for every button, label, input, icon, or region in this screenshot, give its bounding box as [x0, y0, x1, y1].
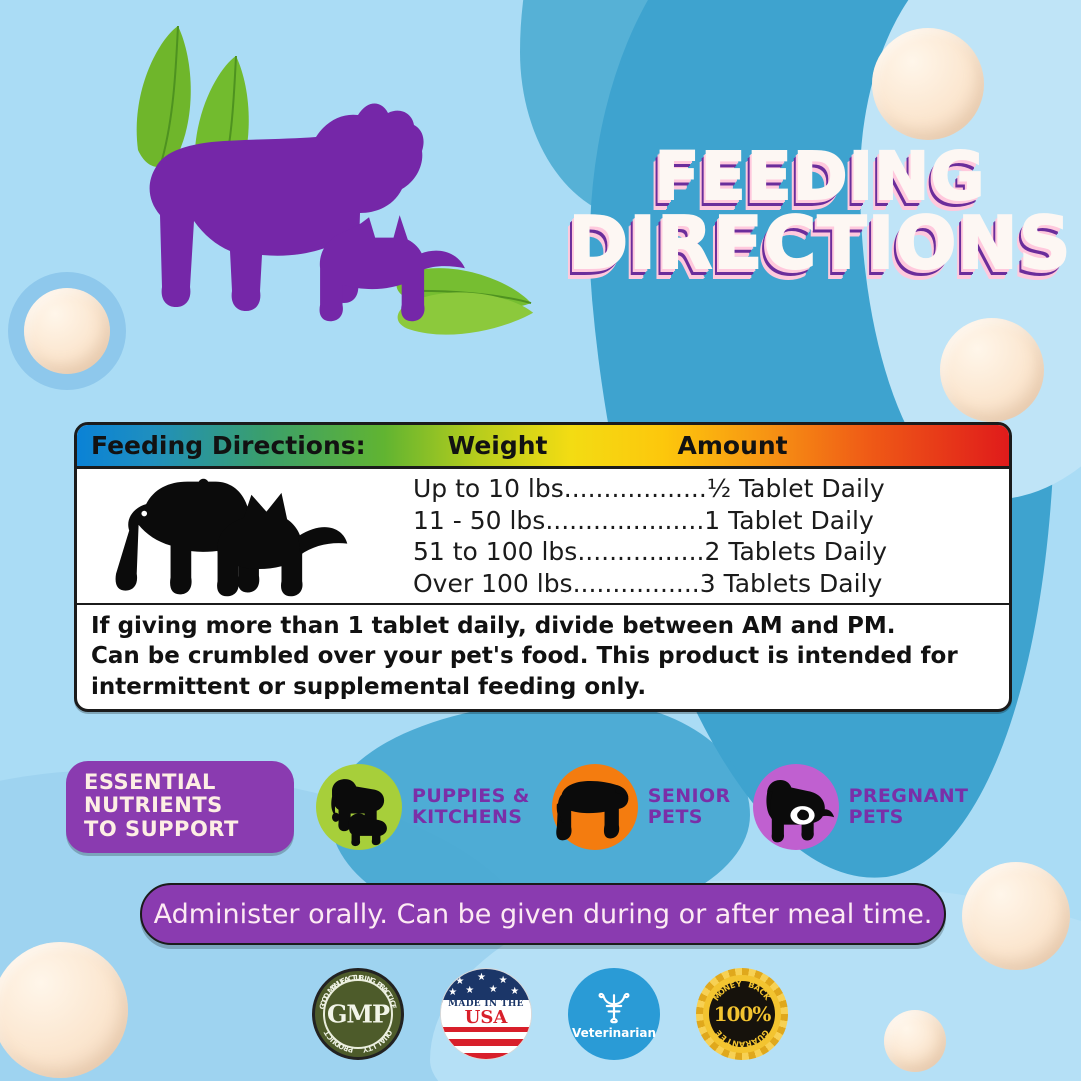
- money-back-guarantee-badge: 100% MONEY BACK GUARANTEE: [696, 968, 788, 1060]
- arc-character: Y: [735, 979, 742, 989]
- usa-flag-circle: ★ ★ ★ ★ ★ ★ ★ MADE IN THE USA: [440, 968, 532, 1060]
- star-icon: ★: [499, 976, 508, 986]
- trust-badges: GOOD MANUFACTURING PRACTICE QUALITY PROD…: [312, 962, 772, 1066]
- benefit-label: PREGNANT PETS: [849, 786, 969, 829]
- dosage-row: 11 - 50 lbs .................... 1 Table…: [413, 505, 1009, 537]
- dosage-amount: 3 Tablets Daily: [700, 568, 883, 600]
- dosage-weight: Up to 10 lbs: [413, 473, 564, 505]
- hero-pet-silhouettes: [120, 95, 540, 345]
- table-header-weight: Weight: [448, 431, 548, 460]
- usa-stripes: [441, 1025, 531, 1059]
- dosage-row: Over 100 lbs ................ 3 Tablets …: [413, 568, 1009, 600]
- puppy-and-kitten-silhouette: [316, 764, 402, 850]
- benefit-label: SENIOR PETS: [648, 786, 731, 829]
- star-icon: ★: [448, 988, 457, 998]
- dosage-amount: ½ Tablet Daily: [707, 473, 885, 505]
- arc-character: [359, 1046, 362, 1054]
- administer-text: Administer orally. Can be given during o…: [154, 899, 933, 930]
- note-line: If giving more than 1 tablet daily, divi…: [91, 611, 995, 641]
- essential-line-2: NUTRIENTS: [84, 794, 280, 818]
- table-notes: If giving more than 1 tablet daily, divi…: [77, 605, 1009, 702]
- table-header-title: Feeding Directions:: [77, 431, 366, 460]
- note-line: Can be crumbled over your pet's food. Th…: [91, 641, 995, 671]
- benefit-senior-pets: SENIOR PETS: [552, 764, 731, 850]
- dosage-weight: Over 100 lbs: [413, 568, 573, 600]
- essential-nutrients-pill: ESSENTIAL NUTRIENTS TO SUPPORT: [66, 761, 294, 854]
- veterinarian-badge: Veterinarian: [568, 968, 660, 1060]
- dosage-dots: ..................: [564, 473, 707, 505]
- dosage-dots: ................: [573, 568, 700, 600]
- benefit-pregnant-pets: PREGNANT PETS: [753, 764, 969, 850]
- caduceus-icon: [594, 988, 634, 1024]
- star-icon: ★: [465, 986, 474, 996]
- dosage-weight: 11 - 50 lbs: [413, 505, 545, 537]
- arc-character: A: [739, 1040, 745, 1049]
- dosage-amount: 2 Tablets Daily: [704, 536, 887, 568]
- guarantee-percent-text: 100%: [714, 1002, 771, 1026]
- table-header-amount: Amount: [678, 431, 788, 460]
- tablet-top-right: [872, 28, 984, 140]
- dosage-row: Up to 10 lbs .................. ½ Tablet…: [413, 473, 1009, 505]
- made-in-usa-badge: ★ ★ ★ ★ ★ ★ ★ MADE IN THE USA: [440, 968, 532, 1060]
- page-title: FEEDING DIRECTIONS: [560, 148, 1080, 275]
- tablet-mid-right: [940, 318, 1044, 422]
- senior-dog-silhouette: [552, 764, 638, 850]
- star-icon: ★: [489, 985, 498, 995]
- table-header-row: Feeding Directions: Weight Amount: [77, 425, 1009, 469]
- title-line-1: FEEDING: [560, 148, 1080, 206]
- gmp-center-text: GMP: [312, 1000, 404, 1029]
- benefit-puppies-kittens: PUPPIES & KITCHENS: [316, 764, 530, 850]
- pregnant-dog-silhouette: [753, 764, 839, 850]
- dog-and-cat-silhouette: [77, 469, 407, 603]
- gmp-badge: GOOD MANUFACTURING PRACTICE QUALITY PROD…: [312, 968, 404, 1060]
- dosage-dots: ....................: [545, 505, 704, 537]
- dosage-list: Up to 10 lbs .................. ½ Tablet…: [407, 469, 1009, 603]
- tablet-left-small: [24, 288, 110, 374]
- benefits-row: ESSENTIAL NUTRIENTS TO SUPPORT PUPPIES &…: [66, 748, 1026, 866]
- tablet-bottom-right-small: [884, 1010, 946, 1072]
- benefit-label: PUPPIES & KITCHENS: [412, 786, 530, 829]
- feeding-directions-card: Feeding Directions: Weight Amount: [74, 422, 1012, 712]
- dosage-weight: 51 to 100 lbs: [413, 536, 577, 568]
- veterinarian-label: Veterinarian: [572, 1026, 656, 1040]
- essential-line-3: TO SUPPORT: [84, 818, 280, 842]
- star-icon: ★: [455, 977, 464, 987]
- tablet-bottom-right-large: [962, 862, 1070, 970]
- title-line-2: DIRECTIONS: [560, 212, 1080, 275]
- note-line: intermittent or supplemental feeding onl…: [91, 672, 995, 702]
- usa-word-text: USA: [465, 1009, 508, 1027]
- dosage-amount: 1 Tablet Daily: [704, 505, 874, 537]
- star-icon: ★: [477, 973, 486, 983]
- usa-text-band: MADE IN THE USA: [441, 1000, 531, 1027]
- table-body: Up to 10 lbs .................. ½ Tablet…: [77, 469, 1009, 605]
- feeding-directions-infographic: FEEDING DIRECTIONS Feeding Directions: W…: [0, 0, 1081, 1081]
- essential-line-1: ESSENTIAL: [84, 771, 280, 795]
- star-icon: ★: [510, 987, 519, 997]
- veterinarian-circle: Veterinarian: [568, 968, 660, 1060]
- dosage-row: 51 to 100 lbs ................ 2 Tablets…: [413, 536, 1009, 568]
- administer-orally-banner: Administer orally. Can be given during o…: [140, 883, 946, 945]
- dosage-dots: ................: [577, 536, 704, 568]
- usa-canton: ★ ★ ★ ★ ★ ★ ★: [441, 969, 531, 1003]
